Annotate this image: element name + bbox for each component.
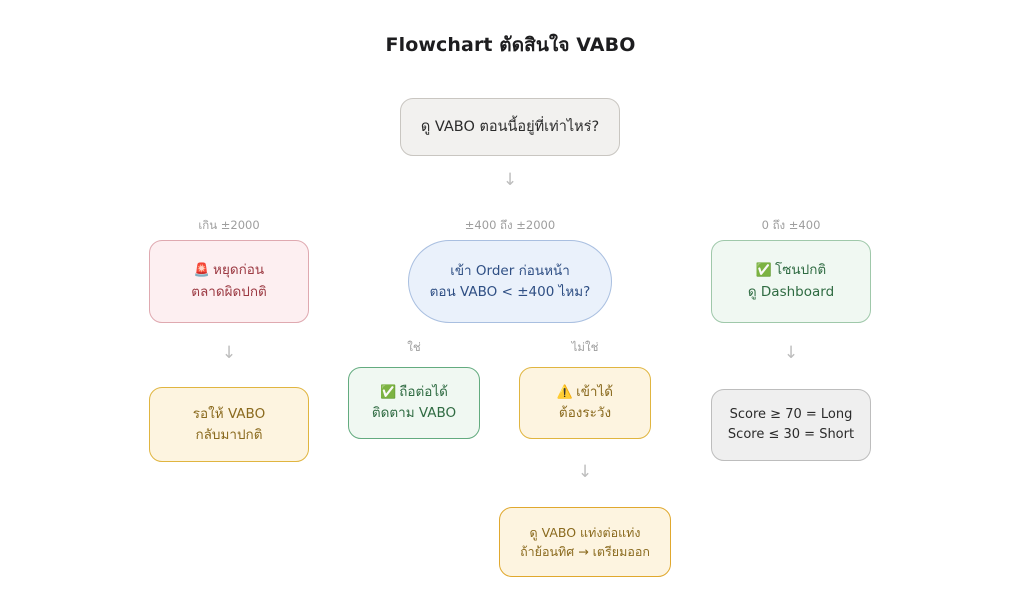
arrow-normal-to-score-icon: ↓ — [779, 345, 803, 362]
node-caution-line2: ต้องระวัง — [559, 403, 611, 424]
node-hold-line1: ✅ถือต่อได้ — [380, 382, 448, 403]
node-hold-line2: ติดตาม VABO — [372, 403, 456, 424]
edge-label-no: ไม่ใช่ — [555, 339, 615, 357]
node-wait-line1: รอให้ VABO — [193, 404, 265, 425]
node-extreme-line1-text: หยุดก่อน — [213, 262, 264, 278]
node-wait-line2: กลับมาปกติ — [195, 425, 262, 446]
node-monitor-line2: ถ้าย้อนทิศ → เตรียมออก — [520, 542, 650, 561]
check-mark-icon: ✅ — [380, 385, 396, 400]
node-score-line1: Score ≥ 70 = Long — [730, 405, 853, 425]
edge-label-extreme: เกิน ±2000 — [169, 217, 289, 235]
arrow-caution-to-monitor-icon: ↓ — [573, 464, 597, 481]
flowchart-canvas: Flowchart ตัดสินใจ VABO ดู VABO ตอนนี้อย… — [0, 0, 1021, 605]
edge-label-normal: 0 ถึง ±400 — [731, 217, 851, 235]
node-normal-line1-text: โซนปกติ — [775, 262, 826, 278]
node-extreme-stop[interactable]: 🚨หยุดก่อน ตลาดผิดปกติ — [149, 240, 309, 323]
node-hold-position[interactable]: ✅ถือต่อได้ ติดตาม VABO — [348, 367, 480, 439]
node-wait-normal[interactable]: รอให้ VABO กลับมาปกติ — [149, 387, 309, 462]
arrow-extreme-to-wait-icon: ↓ — [217, 345, 241, 362]
check-mark-icon: ✅ — [756, 263, 772, 278]
node-caution-entry[interactable]: ⚠️เข้าได้ ต้องระวัง — [519, 367, 651, 439]
node-decision-line1: เข้า Order ก่อนหน้า — [450, 261, 570, 282]
node-root-line1: ดู VABO ตอนนี้อยู่ที่เท่าไหร่? — [421, 116, 599, 138]
node-caution-line1: ⚠️เข้าได้ — [557, 382, 613, 403]
arrow-root-down-icon: ↓ — [498, 172, 522, 189]
node-normal-zone[interactable]: ✅โซนปกติ ดู Dashboard — [711, 240, 871, 323]
node-monitor-line1: ดู VABO แท่งต่อแท่ง — [530, 523, 641, 542]
node-score-line2: Score ≤ 30 = Short — [728, 425, 854, 445]
node-hold-line1-text: ถือต่อได้ — [399, 384, 448, 400]
node-extreme-line1: 🚨หยุดก่อน — [194, 260, 264, 281]
edge-label-mid: ±400 ถึง ±2000 — [450, 217, 570, 235]
node-normal-line1: ✅โซนปกติ — [756, 260, 826, 281]
warning-triangle-icon: ⚠️ — [557, 385, 573, 400]
node-decision-line2: ตอน VABO < ±400 ไหม? — [430, 282, 591, 303]
node-decision-order[interactable]: เข้า Order ก่อนหน้า ตอน VABO < ±400 ไหม? — [408, 240, 612, 323]
node-normal-line2: ดู Dashboard — [748, 282, 834, 303]
node-monitor-bars[interactable]: ดู VABO แท่งต่อแท่ง ถ้าย้อนทิศ → เตรียมอ… — [499, 507, 671, 577]
node-caution-line1-text: เข้าได้ — [576, 384, 613, 400]
edge-label-yes: ใช่ — [384, 339, 444, 357]
alert-siren-icon: 🚨 — [194, 263, 210, 278]
node-root-question[interactable]: ดู VABO ตอนนี้อยู่ที่เท่าไหร่? — [400, 98, 620, 156]
node-score-rules[interactable]: Score ≥ 70 = Long Score ≤ 30 = Short — [711, 389, 871, 461]
node-extreme-line2: ตลาดผิดปกติ — [191, 282, 267, 303]
page-title: Flowchart ตัดสินใจ VABO — [0, 30, 1021, 60]
